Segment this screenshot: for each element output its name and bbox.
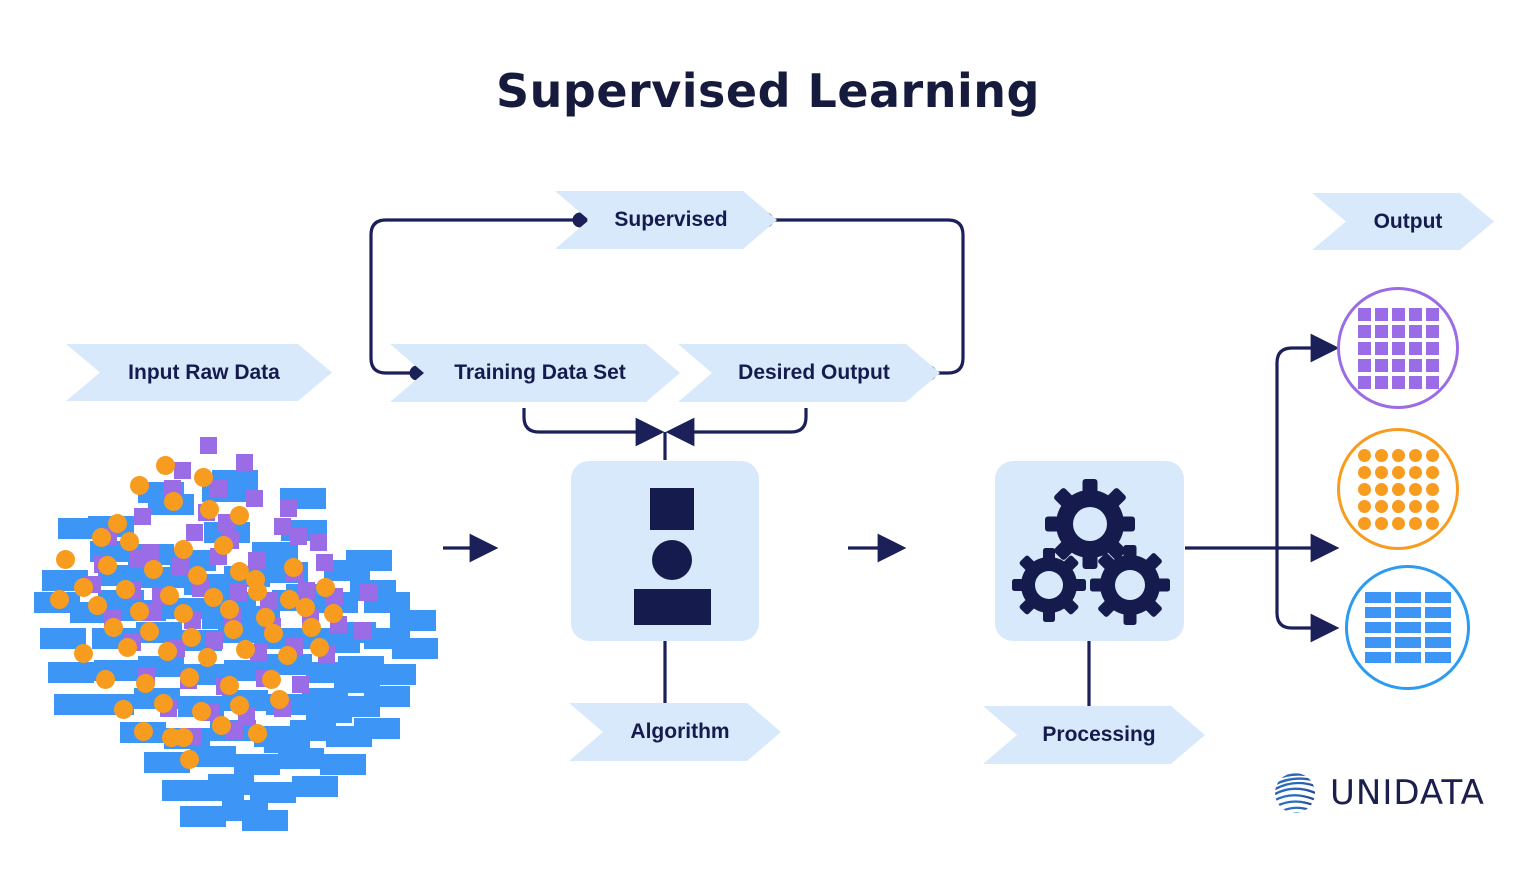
square-cell	[1375, 376, 1388, 389]
square-cell	[1426, 325, 1439, 338]
dot-cell	[1426, 500, 1439, 513]
square-cell	[1358, 308, 1371, 321]
square-cell	[1358, 342, 1371, 355]
input-data-cloud[interactable]	[34, 432, 434, 827]
banner-processing[interactable]: Processing	[983, 706, 1205, 764]
square-cell	[1426, 376, 1439, 389]
square-cell	[1409, 359, 1422, 372]
globe-icon	[1272, 770, 1318, 816]
wire-branch-top	[1277, 348, 1333, 548]
square-cell	[1375, 359, 1388, 372]
banner-label: Desired Output	[728, 361, 890, 385]
purple-square-point	[360, 584, 377, 601]
square-cell	[1409, 308, 1422, 321]
orange-circle-point	[200, 500, 219, 519]
orange-circle-point	[180, 750, 199, 769]
banner-label: Supervised	[604, 208, 727, 232]
algorithm-box[interactable]	[571, 461, 759, 641]
dot-cell	[1392, 500, 1405, 513]
dot-cell	[1426, 517, 1439, 530]
orange-circle-point	[96, 670, 115, 689]
banner-output[interactable]: Output	[1312, 193, 1494, 250]
orange-circle-point	[180, 668, 199, 687]
diagram-canvas: Supervised Learning	[0, 0, 1536, 885]
blue-rectangle-point	[48, 662, 94, 683]
square-cell	[1392, 308, 1405, 321]
orange-circle-point	[162, 728, 181, 747]
orange-circle-point	[104, 618, 123, 637]
square-cell	[1358, 325, 1371, 338]
square-cell	[1426, 308, 1439, 321]
square-cell	[1392, 342, 1405, 355]
square-cell	[1375, 342, 1388, 355]
purple-square-point	[236, 454, 253, 471]
orange-dot-grid	[1358, 449, 1439, 530]
blue-rectangle-point	[234, 754, 280, 775]
square-cell	[1426, 342, 1439, 355]
unidata-logo[interactable]: UNIDATA	[1272, 770, 1485, 816]
blue-rectangle-point	[346, 550, 392, 571]
orange-circle-point	[278, 646, 297, 665]
dot-cell	[1409, 466, 1422, 479]
orange-circle-point	[134, 722, 153, 741]
orange-circle-point	[264, 624, 283, 643]
orange-circle-point	[174, 604, 193, 623]
square-cell	[1392, 359, 1405, 372]
dot-cell	[1358, 483, 1371, 496]
orange-circle-point	[310, 638, 329, 657]
dot-cell	[1409, 483, 1422, 496]
blue-rectangle-point	[264, 732, 310, 753]
output-circle-purple-squares[interactable]	[1337, 287, 1459, 409]
blue-rectangle-point	[198, 780, 244, 801]
page-title: Supervised Learning	[0, 64, 1536, 118]
dot-cell	[1409, 500, 1422, 513]
bar-cell	[1425, 637, 1451, 648]
purple-square-point	[134, 508, 151, 525]
bar-cell	[1395, 592, 1421, 603]
dot-cell	[1392, 466, 1405, 479]
orange-circle-point	[224, 620, 243, 639]
purple-square-point	[274, 518, 291, 535]
banner-label: Processing	[1032, 723, 1155, 747]
blue-rectangle-point	[292, 776, 338, 797]
output-circle-blue-bars[interactable]	[1345, 565, 1470, 690]
dot-cell	[1426, 449, 1439, 462]
bar-cell	[1365, 637, 1391, 648]
purple-square-point	[210, 480, 227, 497]
orange-circle-point	[160, 586, 179, 605]
dot-cell	[1409, 517, 1422, 530]
square-cell	[1375, 308, 1388, 321]
orange-circle-point	[144, 560, 163, 579]
square-cell	[1392, 325, 1405, 338]
dot-cell	[1392, 483, 1405, 496]
bar-cell	[1425, 652, 1451, 663]
banner-input-raw-data[interactable]: Input Raw Data	[66, 344, 332, 401]
orange-circle-point	[92, 528, 111, 547]
purple-square-point	[172, 558, 189, 575]
dot-cell	[1426, 466, 1439, 479]
bar-cell	[1425, 622, 1451, 633]
orange-circle-point	[316, 578, 335, 597]
orange-circle-point	[262, 670, 281, 689]
square-cell	[1358, 376, 1371, 389]
bar-cell	[1365, 607, 1391, 618]
logo-text: UNIDATA	[1330, 773, 1485, 813]
orange-circle-point	[302, 618, 321, 637]
orange-circle-point	[130, 476, 149, 495]
three-gears-icon	[995, 461, 1184, 641]
orange-circle-point	[220, 600, 239, 619]
blue-rectangle-point	[390, 610, 436, 631]
orange-circle-point	[212, 716, 231, 735]
orange-circle-point	[236, 640, 255, 659]
orange-circle-point	[88, 596, 107, 615]
banner-training-data-set[interactable]: Training Data Set	[390, 344, 680, 402]
banner-supervised[interactable]: Supervised	[555, 191, 777, 249]
banner-label: Input Raw Data	[118, 361, 280, 385]
purple-square-point	[290, 528, 307, 545]
orange-circle-point	[230, 696, 249, 715]
bar-cell	[1395, 607, 1421, 618]
orange-circle-point	[74, 578, 93, 597]
orange-circle-point	[194, 468, 213, 487]
dot-cell	[1375, 517, 1388, 530]
bar-cell	[1365, 592, 1391, 603]
blue-rectangle-point	[54, 694, 100, 715]
orange-circle-point	[164, 492, 183, 511]
dot-cell	[1375, 500, 1388, 513]
blue-rectangle-point	[180, 806, 226, 827]
square-shape-icon	[650, 488, 694, 530]
rectangle-shape-icon	[634, 589, 711, 625]
orange-circle-point	[220, 676, 239, 695]
dot-cell	[1392, 517, 1405, 530]
orange-circle-point	[324, 604, 343, 623]
banner-label: Training Data Set	[444, 361, 626, 385]
blue-rectangle-point	[334, 672, 380, 693]
bar-cell	[1425, 607, 1451, 618]
wire-branch-bottom	[1277, 548, 1333, 628]
orange-circle-point	[284, 558, 303, 577]
orange-circle-point	[270, 690, 289, 709]
bar-cell	[1425, 592, 1451, 603]
wire-training-to-algorithm	[524, 408, 658, 432]
purple-square-grid	[1358, 308, 1439, 389]
square-cell	[1426, 359, 1439, 372]
orange-circle-point	[198, 648, 217, 667]
orange-circle-point	[116, 580, 135, 599]
orange-circle-point	[188, 566, 207, 585]
bar-cell	[1365, 652, 1391, 663]
orange-circle-point	[140, 622, 159, 641]
orange-circle-point	[74, 644, 93, 663]
orange-circle-point	[114, 700, 133, 719]
blue-rectangle-point	[306, 702, 352, 723]
purple-square-point	[280, 500, 297, 517]
bar-cell	[1395, 637, 1421, 648]
blue-rectangle-point	[320, 754, 366, 775]
dot-cell	[1358, 517, 1371, 530]
dot-cell	[1375, 483, 1388, 496]
square-cell	[1409, 376, 1422, 389]
orange-circle-point	[296, 598, 315, 617]
orange-circle-point	[230, 506, 249, 525]
purple-square-point	[248, 552, 265, 569]
dot-cell	[1358, 449, 1371, 462]
blue-bar-grid	[1365, 592, 1451, 663]
bar-cell	[1395, 652, 1421, 663]
purple-square-point	[316, 554, 333, 571]
orange-circle-point	[154, 694, 173, 713]
orange-circle-point	[108, 514, 127, 533]
orange-circle-point	[174, 540, 193, 559]
purple-square-point	[206, 632, 223, 649]
purple-square-point	[186, 524, 203, 541]
square-cell	[1392, 376, 1405, 389]
orange-circle-point	[118, 638, 137, 657]
orange-circle-point	[50, 590, 69, 609]
dot-cell	[1392, 449, 1405, 462]
orange-circle-point	[56, 550, 75, 569]
dot-cell	[1426, 483, 1439, 496]
dot-cell	[1409, 449, 1422, 462]
circle-shape-icon	[652, 540, 692, 580]
orange-circle-point	[192, 702, 211, 721]
orange-circle-point	[156, 456, 175, 475]
banner-label: Output	[1364, 210, 1443, 234]
bar-cell	[1395, 622, 1421, 633]
orange-circle-point	[158, 642, 177, 661]
blue-rectangle-point	[354, 718, 400, 739]
blue-rectangle-point	[392, 638, 438, 659]
bar-cell	[1365, 622, 1391, 633]
dot-cell	[1375, 466, 1388, 479]
orange-circle-point	[182, 628, 201, 647]
square-cell	[1375, 325, 1388, 338]
blue-rectangle-point	[242, 810, 288, 831]
banner-label: Algorithm	[620, 720, 729, 744]
banner-algorithm[interactable]: Algorithm	[569, 703, 781, 761]
orange-circle-point	[248, 582, 267, 601]
purple-square-point	[230, 584, 247, 601]
dot-cell	[1358, 500, 1371, 513]
banner-desired-output[interactable]: Desired Output	[678, 344, 940, 402]
orange-circle-point	[120, 532, 139, 551]
orange-circle-point	[214, 536, 233, 555]
processing-box[interactable]	[995, 461, 1184, 641]
purple-square-point	[354, 622, 371, 639]
purple-square-point	[310, 534, 327, 551]
purple-square-point	[298, 582, 315, 599]
orange-circle-point	[136, 674, 155, 693]
dot-cell	[1358, 466, 1371, 479]
purple-square-point	[200, 437, 217, 454]
purple-square-point	[174, 462, 191, 479]
output-circle-orange-dots[interactable]	[1337, 428, 1459, 550]
square-cell	[1409, 342, 1422, 355]
purple-square-point	[292, 676, 309, 693]
dot-cell	[1375, 449, 1388, 462]
purple-square-point	[246, 490, 263, 507]
orange-circle-point	[130, 602, 149, 621]
orange-circle-point	[248, 724, 267, 743]
square-cell	[1358, 359, 1371, 372]
orange-circle-point	[98, 556, 117, 575]
wire-desired-to-algorithm	[672, 408, 806, 432]
square-cell	[1409, 325, 1422, 338]
